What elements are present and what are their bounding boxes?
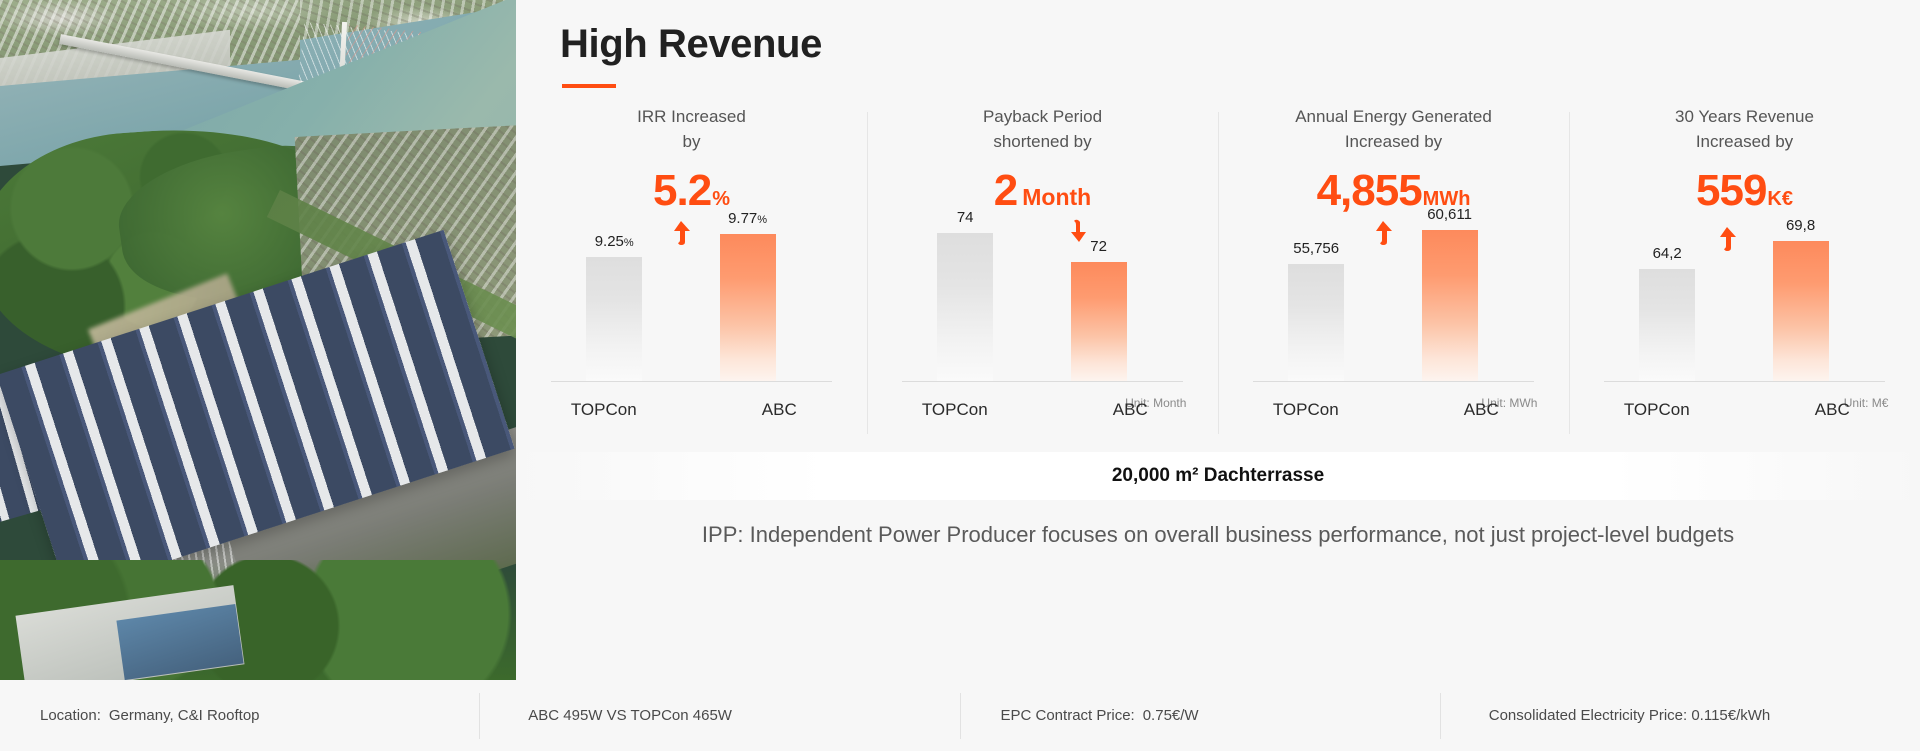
panel-headline-unit: % xyxy=(712,188,730,210)
category-labels: TOPCon ABC xyxy=(516,400,867,420)
category-labels: TOPCon ABC xyxy=(1569,400,1920,420)
category-label-abc: ABC xyxy=(1043,400,1219,420)
chart-baseline xyxy=(902,381,1183,382)
panel-headline-number: 5.2 xyxy=(653,166,711,215)
bar-value-label: 72 xyxy=(1034,238,1164,255)
project-photo xyxy=(0,0,516,680)
arrow-down-icon xyxy=(1067,218,1091,248)
bar-value-label: 9.25% xyxy=(549,233,679,250)
panel-caption-line2: Increased by xyxy=(1218,129,1569,154)
bar-value: 60,611 xyxy=(1427,206,1472,223)
slide-root: High Revenue IRR Increased by 5.2% 9.25% xyxy=(0,0,1920,751)
bar-value-label: 64,2 xyxy=(1602,245,1732,262)
category-label-abc: ABC xyxy=(1394,400,1570,420)
panel-caption: 30 Years Revenue Increased by xyxy=(1569,104,1920,154)
category-label-topcon: TOPCon xyxy=(516,400,692,420)
bar-chart: 74 72 Unit: Month xyxy=(867,222,1218,382)
footer-bar: Location: Germany, C&I Rooftop ABC 495W … xyxy=(0,680,1920,751)
area-band-text: 20,000 m² Dachterrasse xyxy=(1112,465,1324,487)
area-band: 20,000 m² Dachterrasse xyxy=(516,452,1920,500)
category-label-topcon: TOPCon xyxy=(1218,400,1394,420)
bar-topcon: 74 xyxy=(937,233,993,381)
aerial-photo-illustration xyxy=(0,0,516,680)
bar-value: 9.77 xyxy=(728,210,757,227)
bar-value: 69,8 xyxy=(1786,217,1815,234)
content-area: High Revenue IRR Increased by 5.2% 9.25% xyxy=(516,0,1920,680)
panel-headline-unit: K€ xyxy=(1767,188,1793,210)
metric-panel-30y-revenue: 30 Years Revenue Increased by 559K€ 64,2 xyxy=(1569,104,1920,444)
category-label-abc: ABC xyxy=(1745,400,1920,420)
footer-cell-comparison: ABC 495W VS TOPCon 465W xyxy=(479,693,959,739)
bar-value-label: 55,756 xyxy=(1251,240,1381,257)
panel-headline-value: 559K€ xyxy=(1569,166,1920,216)
category-label-topcon: TOPCon xyxy=(1569,400,1745,420)
bar-value-suffix: % xyxy=(624,237,634,249)
chart-baseline xyxy=(1604,381,1885,382)
category-label-abc: ABC xyxy=(692,400,868,420)
category-labels: TOPCon ABC xyxy=(1218,400,1569,420)
metric-panels: IRR Increased by 5.2% 9.25% 9.77% xyxy=(516,104,1920,444)
footer-value: 0.75€/W xyxy=(1143,707,1199,724)
panel-headline-number: 559 xyxy=(1696,166,1766,215)
footer-key: Location: xyxy=(40,707,101,724)
bar-chart: 9.25% 9.77% xyxy=(516,222,867,382)
category-label-topcon: TOPCon xyxy=(867,400,1043,420)
chart-baseline xyxy=(1253,381,1534,382)
metric-panel-annual-energy: Annual Energy Generated Increased by 4,8… xyxy=(1218,104,1569,444)
bar-value: 55,756 xyxy=(1293,240,1339,257)
bar-abc: 69,8 xyxy=(1773,241,1829,381)
bar-chart: 55,756 60,611 Unit: MWh xyxy=(1218,222,1569,382)
arrow-up-icon xyxy=(1716,226,1738,256)
footer-cell-electricity-price: Consolidated Electricity Price: 0.115€/k… xyxy=(1440,693,1920,739)
bar-topcon: 9.25% xyxy=(586,257,642,381)
panel-caption: Annual Energy Generated Increased by xyxy=(1218,104,1569,154)
bar-abc: 9.77% xyxy=(720,234,776,381)
panel-headline-number: 2 xyxy=(994,166,1017,215)
panel-caption-line1: IRR Increased xyxy=(516,104,867,129)
metric-panel-irr: IRR Increased by 5.2% 9.25% 9.77% xyxy=(516,104,867,444)
bar-abc: 72 xyxy=(1071,262,1127,381)
bar-value: 9.25 xyxy=(595,233,624,250)
bar-value-label: 74 xyxy=(900,209,1030,226)
bar-value-suffix: % xyxy=(757,214,767,226)
panel-headline-unit: Month xyxy=(1022,184,1091,210)
footer-value: ABC 495W VS TOPCon 465W xyxy=(528,707,732,724)
footer-value: Germany, C&I Rooftop xyxy=(109,707,260,724)
panel-headline-value: 5.2% xyxy=(516,166,867,216)
panel-caption-line2: by xyxy=(516,129,867,154)
panel-caption-line1: Payback Period xyxy=(867,104,1218,129)
panel-caption-line1: 30 Years Revenue xyxy=(1569,104,1920,129)
bar-topcon: 55,756 xyxy=(1288,264,1344,381)
bar-topcon: 64,2 xyxy=(1639,269,1695,381)
footer-cell-epc-price: EPC Contract Price: 0.75€/W xyxy=(960,693,1440,739)
panel-caption-line2: shortened by xyxy=(867,129,1218,154)
panel-caption-line2: Increased by xyxy=(1569,129,1920,154)
page-title: High Revenue xyxy=(560,22,822,67)
panel-caption: Payback Period shortened by xyxy=(867,104,1218,154)
bar-abc: 60,611 xyxy=(1422,230,1478,381)
ipp-note: IPP: Independent Power Producer focuses … xyxy=(516,504,1920,566)
bar-value-label: 60,611 xyxy=(1385,206,1515,223)
panel-caption: IRR Increased by xyxy=(516,104,867,154)
title-accent-rule xyxy=(562,84,616,88)
footer-key: EPC Contract Price: xyxy=(1001,707,1135,724)
category-labels: TOPCon ABC xyxy=(867,400,1218,420)
bar-value: 74 xyxy=(957,209,974,226)
footer-cell-location: Location: Germany, C&I Rooftop xyxy=(0,693,479,739)
bar-value: 72 xyxy=(1090,238,1107,255)
bar-value: 64,2 xyxy=(1653,245,1682,262)
bar-chart: 64,2 69,8 Unit: M€ xyxy=(1569,222,1920,382)
metric-panel-payback: Payback Period shortened by 2Month 74 xyxy=(867,104,1218,444)
arrow-up-icon xyxy=(1372,220,1394,250)
bar-value-label: 9.77% xyxy=(683,210,813,227)
panel-caption-line1: Annual Energy Generated xyxy=(1218,104,1569,129)
bar-value-label: 69,8 xyxy=(1736,217,1866,234)
chart-baseline xyxy=(551,381,832,382)
footer-value: Consolidated Electricity Price: 0.115€/k… xyxy=(1489,707,1771,724)
ipp-note-text: IPP: Independent Power Producer focuses … xyxy=(702,522,1734,548)
arrow-up-icon xyxy=(670,220,692,250)
